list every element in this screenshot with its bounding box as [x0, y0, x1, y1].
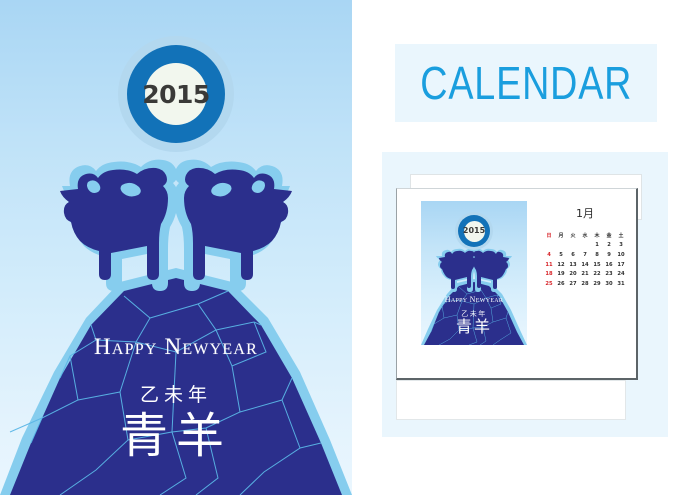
calendar-weekday-2: 火: [567, 230, 579, 240]
calendar-day-4[interactable]: 4: [543, 250, 555, 260]
calendar-day-11[interactable]: 11: [543, 260, 555, 270]
calendar-table: 日月火水木金土 12345678910111213141516171819202…: [543, 230, 627, 289]
calendar-week-row: 45678910: [543, 250, 627, 260]
mini-poster: 2015 Happy Newyear 乙未年 青羊: [421, 201, 527, 345]
calendar-day-16[interactable]: 16: [603, 260, 615, 270]
calendar-day-empty: [567, 240, 579, 250]
poster-year-name-text: 乙未年: [0, 380, 352, 407]
mockup-panel: 2015 Happy Newyear 乙未年 青羊 1月 日月火水木金土 123…: [382, 152, 668, 437]
calendar-week-row: 25262728293031: [543, 279, 627, 289]
calendar-day-1[interactable]: 1: [591, 240, 603, 250]
ram-pair-silhouette: [60, 168, 292, 280]
calendar-day-19[interactable]: 19: [555, 270, 567, 280]
calendar-day-empty: [579, 240, 591, 250]
right-column: CALENDAR: [352, 0, 700, 495]
desk-calendar-base: [396, 380, 626, 420]
calendar-day-21[interactable]: 21: [579, 270, 591, 280]
calendar-day-24[interactable]: 24: [615, 270, 627, 280]
calendar-day-30[interactable]: 30: [603, 279, 615, 289]
calendar-day-20[interactable]: 20: [567, 270, 579, 280]
poster-zodiac-text: 青羊: [0, 412, 352, 460]
desk-calendar-card: 2015 Happy Newyear 乙未年 青羊 1月 日月火水木金土 123…: [396, 188, 638, 380]
calendar-day-31[interactable]: 31: [615, 279, 627, 289]
calendar-day-5[interactable]: 5: [555, 250, 567, 260]
year-emblem-core: 2015: [145, 63, 207, 125]
calendar-month-label: 1月: [543, 205, 627, 221]
calendar-day-29[interactable]: 29: [591, 279, 603, 289]
mini-year-emblem-label: 2015: [463, 227, 485, 235]
calendar-day-18[interactable]: 18: [543, 270, 555, 280]
calendar-day-26[interactable]: 26: [555, 279, 567, 289]
calendar-day-6[interactable]: 6: [567, 250, 579, 260]
calendar-day-28[interactable]: 28: [579, 279, 591, 289]
poster-greeting-text: Happy Newyear: [0, 334, 352, 360]
calendar-day-15[interactable]: 15: [591, 260, 603, 270]
calendar-day-25[interactable]: 25: [543, 279, 555, 289]
calendar-weekday-5: 金: [603, 230, 615, 240]
calendar-day-22[interactable]: 22: [591, 270, 603, 280]
calendar-day-2[interactable]: 2: [603, 240, 615, 250]
calendar-weekday-3: 水: [579, 230, 591, 240]
mini-year-emblem-ring: 2015: [458, 215, 490, 247]
calendar-grid-wrapper: 1月 日月火水木金土 12345678910111213141516171819…: [543, 205, 627, 289]
calendar-day-10[interactable]: 10: [615, 250, 627, 260]
calendar-week-row: 123: [543, 240, 627, 250]
calendar-weekday-6: 土: [615, 230, 627, 240]
mini-year-emblem: 2015: [455, 212, 493, 250]
calendar-day-14[interactable]: 14: [579, 260, 591, 270]
calendar-day-empty: [555, 240, 567, 250]
calendar-weekday-0: 日: [543, 230, 555, 240]
poster-mockup-stage: 2015 Happy Newyear 乙未年 青羊 CALENDAR: [0, 0, 700, 495]
calendar-week-row: 18192021222324: [543, 270, 627, 280]
calendar-day-13[interactable]: 13: [567, 260, 579, 270]
mini-poster-greeting-text: Happy Newyear: [421, 295, 527, 304]
calendar-day-3[interactable]: 3: [615, 240, 627, 250]
mini-poster-zodiac-text: 青羊: [421, 319, 527, 335]
calendar-day-12[interactable]: 12: [555, 260, 567, 270]
calendar-weekday-header: 日月火水木金土: [543, 230, 627, 240]
calendar-day-17[interactable]: 17: [615, 260, 627, 270]
calendar-title-panel: CALENDAR: [395, 44, 657, 122]
new-year-poster: 2015 Happy Newyear 乙未年 青羊: [0, 0, 352, 495]
calendar-day-9[interactable]: 9: [603, 250, 615, 260]
calendar-weekday-1: 月: [555, 230, 567, 240]
calendar-title: CALENDAR: [420, 56, 632, 110]
calendar-day-23[interactable]: 23: [603, 270, 615, 280]
calendar-day-empty: [543, 240, 555, 250]
year-emblem-label: 2015: [142, 82, 210, 107]
calendar-day-7[interactable]: 7: [579, 250, 591, 260]
year-emblem-ring: 2015: [127, 45, 225, 143]
mini-year-emblem-core: 2015: [464, 221, 485, 242]
calendar-day-8[interactable]: 8: [591, 250, 603, 260]
year-emblem: 2015: [118, 36, 234, 152]
calendar-week-row: 11121314151617: [543, 260, 627, 270]
calendar-weekday-4: 木: [591, 230, 603, 240]
calendar-day-27[interactable]: 27: [567, 279, 579, 289]
